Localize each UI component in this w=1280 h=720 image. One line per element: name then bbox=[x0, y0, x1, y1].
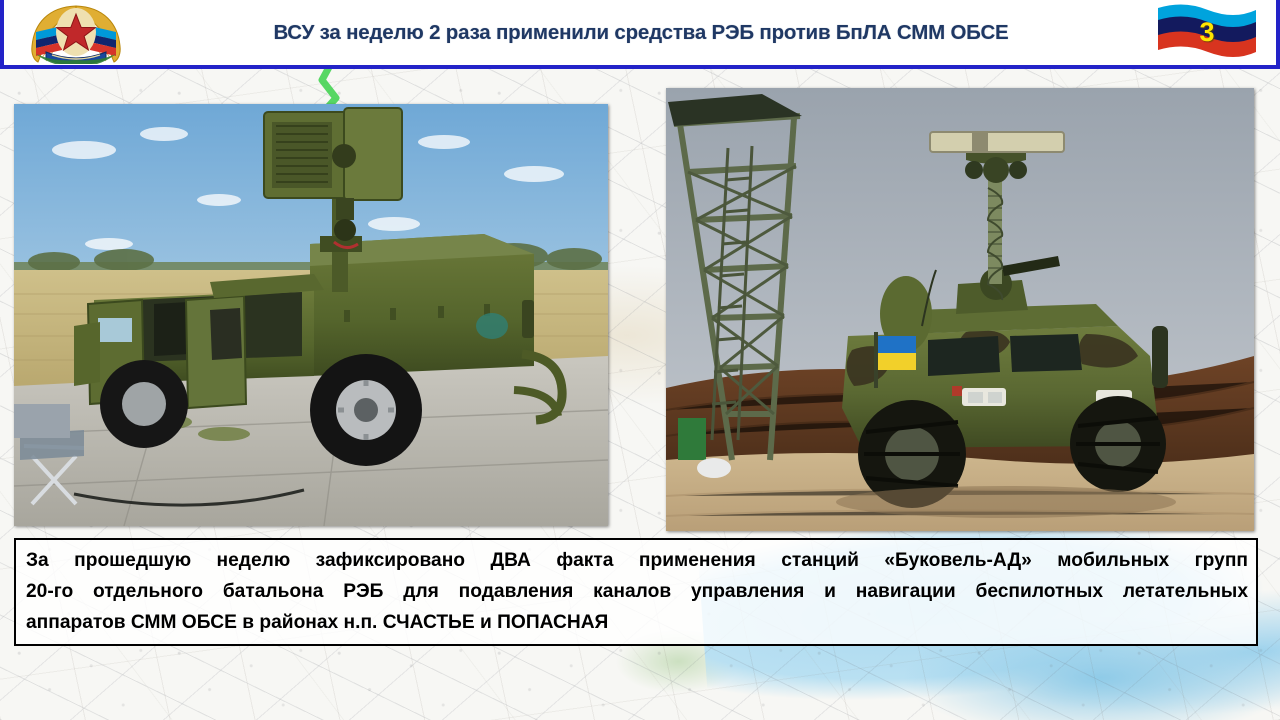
photo-armored-mast-vehicle bbox=[666, 88, 1254, 531]
photo-ew-pickup bbox=[14, 104, 608, 526]
caption-line-2: 20-го отдельного батальона РЭБ для подав… bbox=[26, 576, 1248, 607]
page-title: ВСУ за неделю 2 раза применили средства … bbox=[130, 21, 1152, 45]
header-bar: ВСУ за неделю 2 раза применили средства … bbox=[0, 0, 1280, 69]
lnr-flag-icon: 3 bbox=[1152, 2, 1262, 64]
caption-line-1: За прошедшую неделю зафиксировано ДВА фа… bbox=[26, 545, 1248, 576]
caption-box: За прошедшую неделю зафиксировано ДВА фа… bbox=[14, 538, 1258, 646]
lnr-coat-of-arms-icon bbox=[22, 2, 130, 64]
slide-root: ВСУ за неделю 2 раза применили средства … bbox=[0, 0, 1280, 720]
caption-line-3: аппаратов СММ ОБСЕ в районах н.п. СЧАСТЬ… bbox=[26, 607, 1248, 638]
